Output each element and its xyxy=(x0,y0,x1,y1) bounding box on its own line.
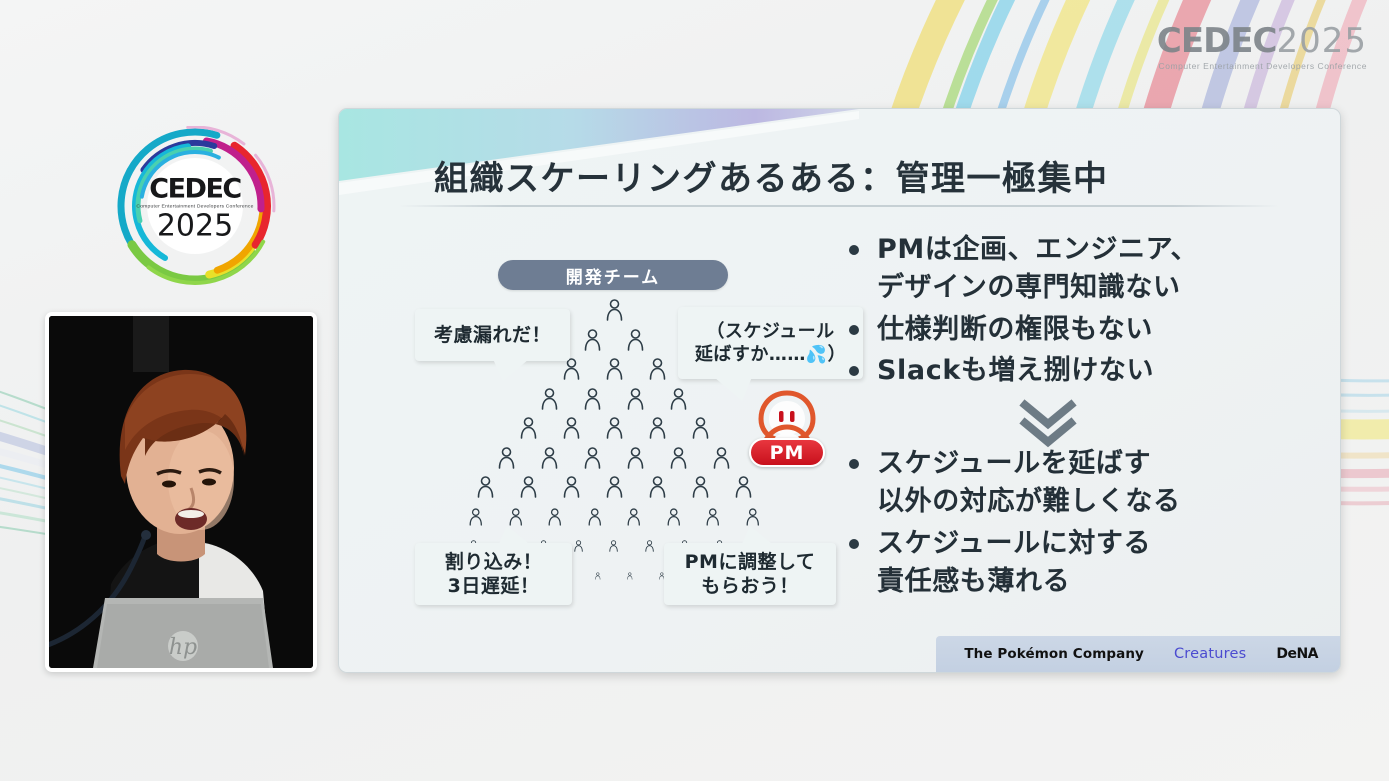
speech-bubble-schedule-line2-text: 延ばすか…… xyxy=(695,344,806,365)
person-icon xyxy=(563,358,580,380)
speech-bubble-schedule-line2: 延ばすか……💦） xyxy=(695,343,846,367)
bullet-dot xyxy=(849,539,859,549)
cedec-ring-logo-text: CEDEC Computer Entertainment Developers … xyxy=(130,177,260,242)
presentation-slide: 組織スケーリングあるある：管理一極集中 開発チーム 考慮漏れだ！ （スケジュール… xyxy=(338,108,1341,673)
cedec-ring-logo: CEDEC Computer Entertainment Developers … xyxy=(104,126,286,286)
bullet-dot xyxy=(849,245,859,255)
speaker-video-feed: hp xyxy=(49,316,313,668)
person-icon xyxy=(706,506,720,528)
person-icon xyxy=(498,447,515,469)
person-icon xyxy=(584,388,601,410)
person-icon xyxy=(588,506,602,528)
pyramid-row xyxy=(469,476,759,498)
pyramid-row xyxy=(469,506,759,528)
bullet-group-bottom: スケジュールを延ばす以外の対応が難しくなるスケジュールに対する責任感も薄れる xyxy=(849,445,1181,604)
speech-bubble-tail xyxy=(714,377,752,401)
person-icon xyxy=(627,329,644,351)
bullet-bottom-1-text: スケジュールを延ばす以外の対応が難しくなる xyxy=(877,445,1181,522)
speech-bubble-interrupt: 割り込み！ 3日遅延！ xyxy=(415,543,572,605)
cedec-ring-subtitle: Computer Entertainment Developers Confer… xyxy=(130,204,260,209)
cedec-ring-brand: CEDEC xyxy=(130,177,260,203)
person-icon xyxy=(692,476,709,498)
person-icon xyxy=(746,506,760,528)
cedec-header-brand: CEDEC xyxy=(1157,21,1277,61)
speech-bubble-schedule: （スケジュール 延ばすか……💦） xyxy=(678,307,863,379)
footer-dena-logo: DeNA xyxy=(1276,646,1318,662)
cedec-ring-year: 2025 xyxy=(130,210,260,242)
speech-bubble-interrupt-line1: 割り込み！ xyxy=(445,550,543,574)
bullet-dot xyxy=(849,366,859,376)
person-icon xyxy=(649,358,666,380)
speech-bubble-oversight: 考慮漏れだ！ xyxy=(415,309,570,361)
bullet-group-top: PMは企画、エンジニア、デザインの専門知識ない仕様判断の権限もないSlackも増… xyxy=(849,231,1198,393)
cedec-header-logo: CEDEC2025 Computer Entertainment Develop… xyxy=(1157,24,1367,71)
pm-badge: PM xyxy=(749,438,825,467)
person-icon xyxy=(670,388,687,410)
bullet-top-3-text: Slackも増え捌けない xyxy=(877,352,1154,390)
pyramid-row xyxy=(469,417,759,439)
bullet-top-1: PMは企画、エンジニア、デザインの専門知識ない xyxy=(849,231,1198,308)
bullet-bottom-2: スケジュールに対する責任感も薄れる xyxy=(849,525,1181,602)
person-icon xyxy=(649,476,666,498)
person-icon xyxy=(520,417,537,439)
speech-bubble-ask-pm-line1: PMに調整して xyxy=(685,550,816,574)
person-icon xyxy=(645,535,654,557)
pm-avatar: PM xyxy=(751,387,823,467)
person-icon xyxy=(606,299,623,321)
person-icon xyxy=(595,565,601,587)
person-icon xyxy=(606,358,623,380)
person-icon xyxy=(541,447,558,469)
speech-bubble-tail xyxy=(742,526,772,544)
person-icon xyxy=(548,506,562,528)
person-icon xyxy=(692,417,709,439)
svg-text:hp: hp xyxy=(169,635,197,660)
person-icon xyxy=(574,535,583,557)
person-icon xyxy=(469,506,483,528)
double-chevron-down-icon xyxy=(1017,399,1079,449)
bullet-top-2: 仕様判断の権限もない xyxy=(849,311,1198,349)
sweat-drop-icon: 💦 xyxy=(806,345,828,365)
person-icon xyxy=(667,506,681,528)
bullet-top-3: Slackも増え捌けない xyxy=(849,352,1198,390)
bullet-top-2-text: 仕様判断の権限もない xyxy=(877,311,1153,349)
bullet-top-1-text: PMは企画、エンジニア、デザインの専門知識ない xyxy=(877,231,1198,308)
person-icon xyxy=(606,417,623,439)
person-icon xyxy=(670,447,687,469)
pyramid-row xyxy=(469,447,759,469)
person-icon xyxy=(649,417,666,439)
title-divider xyxy=(399,205,1279,207)
speaker-video-panel: hp xyxy=(45,312,317,672)
person-icon xyxy=(584,329,601,351)
cedec-header-year: 2025 xyxy=(1276,21,1367,61)
speech-bubble-oversight-line1: 考慮漏れだ！ xyxy=(434,323,551,347)
person-icon xyxy=(606,476,623,498)
person-icon xyxy=(477,476,494,498)
person-icon xyxy=(713,447,730,469)
slide-title: 組織スケーリングあるある：管理一極集中 xyxy=(434,151,1109,200)
footer-pokemon-logo: The Pokémon Company xyxy=(964,646,1144,662)
person-icon xyxy=(627,447,644,469)
person-icon xyxy=(520,476,537,498)
bullet-dot xyxy=(849,459,859,469)
speaker-image: hp xyxy=(49,316,313,668)
person-icon xyxy=(563,417,580,439)
bullet-dot xyxy=(849,325,859,335)
person-icon xyxy=(541,388,558,410)
cedec-header-wordmark: CEDEC2025 xyxy=(1157,24,1367,58)
person-icon xyxy=(584,447,601,469)
person-icon xyxy=(627,388,644,410)
bullet-bottom-1: スケジュールを延ばす以外の対応が難しくなる xyxy=(849,445,1181,522)
bullet-bottom-2-text: スケジュールに対する責任感も薄れる xyxy=(877,525,1151,602)
speech-bubble-tail xyxy=(493,359,529,381)
speech-bubble-ask-pm-line2: もらおう！ xyxy=(701,574,799,598)
person-icon xyxy=(735,476,752,498)
speech-bubble-interrupt-line2: 3日遅延！ xyxy=(448,574,540,598)
speech-bubble-tail xyxy=(499,526,529,544)
speech-bubble-ask-pm: PMに調整して もらおう！ xyxy=(664,543,836,605)
dev-team-label: 開発チーム xyxy=(498,260,728,290)
person-icon xyxy=(627,506,641,528)
footer-creatures-logo: Creatures xyxy=(1174,646,1246,662)
speech-bubble-schedule-close: ） xyxy=(828,344,847,365)
slide-footer: The Pokémon Company Creatures DeNA xyxy=(936,636,1340,672)
person-icon xyxy=(509,506,523,528)
person-icon xyxy=(609,535,618,557)
cedec-header-subtitle: Computer Entertainment Developers Confer… xyxy=(1157,61,1367,71)
person-icon xyxy=(563,476,580,498)
person-icon xyxy=(627,565,633,587)
speech-bubble-schedule-line1: （スケジュール xyxy=(706,320,834,343)
